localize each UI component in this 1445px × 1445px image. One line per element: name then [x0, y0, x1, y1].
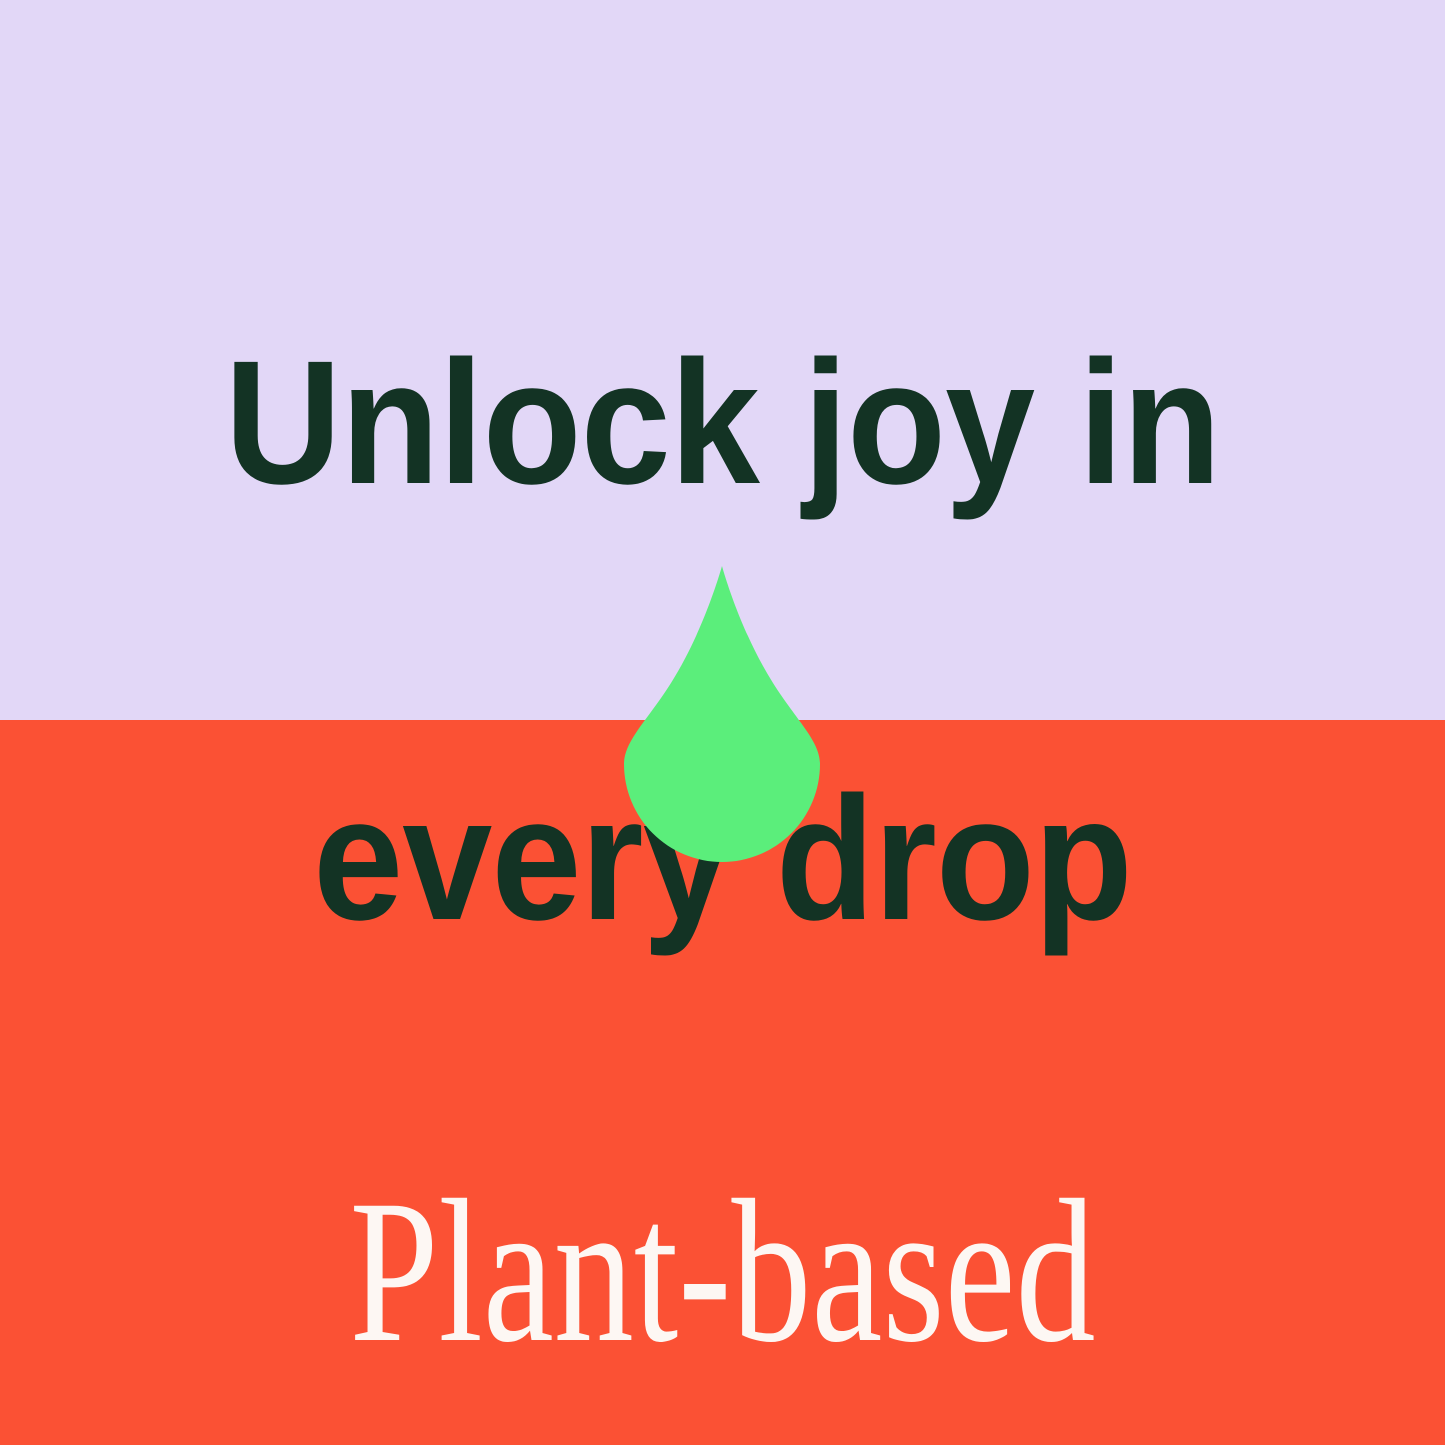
subheadline: Plant-based everyday bliss — [159, 898, 1286, 1445]
promo-poster: Unlock joy in every drop Plant-based eve… — [0, 0, 1445, 1445]
water-droplet-icon — [624, 566, 820, 862]
subheadline-line-1: Plant-based — [159, 1147, 1286, 1396]
headline-line-1: Unlock joy in — [58, 314, 1387, 532]
droplet-graphic — [621, 563, 823, 865]
